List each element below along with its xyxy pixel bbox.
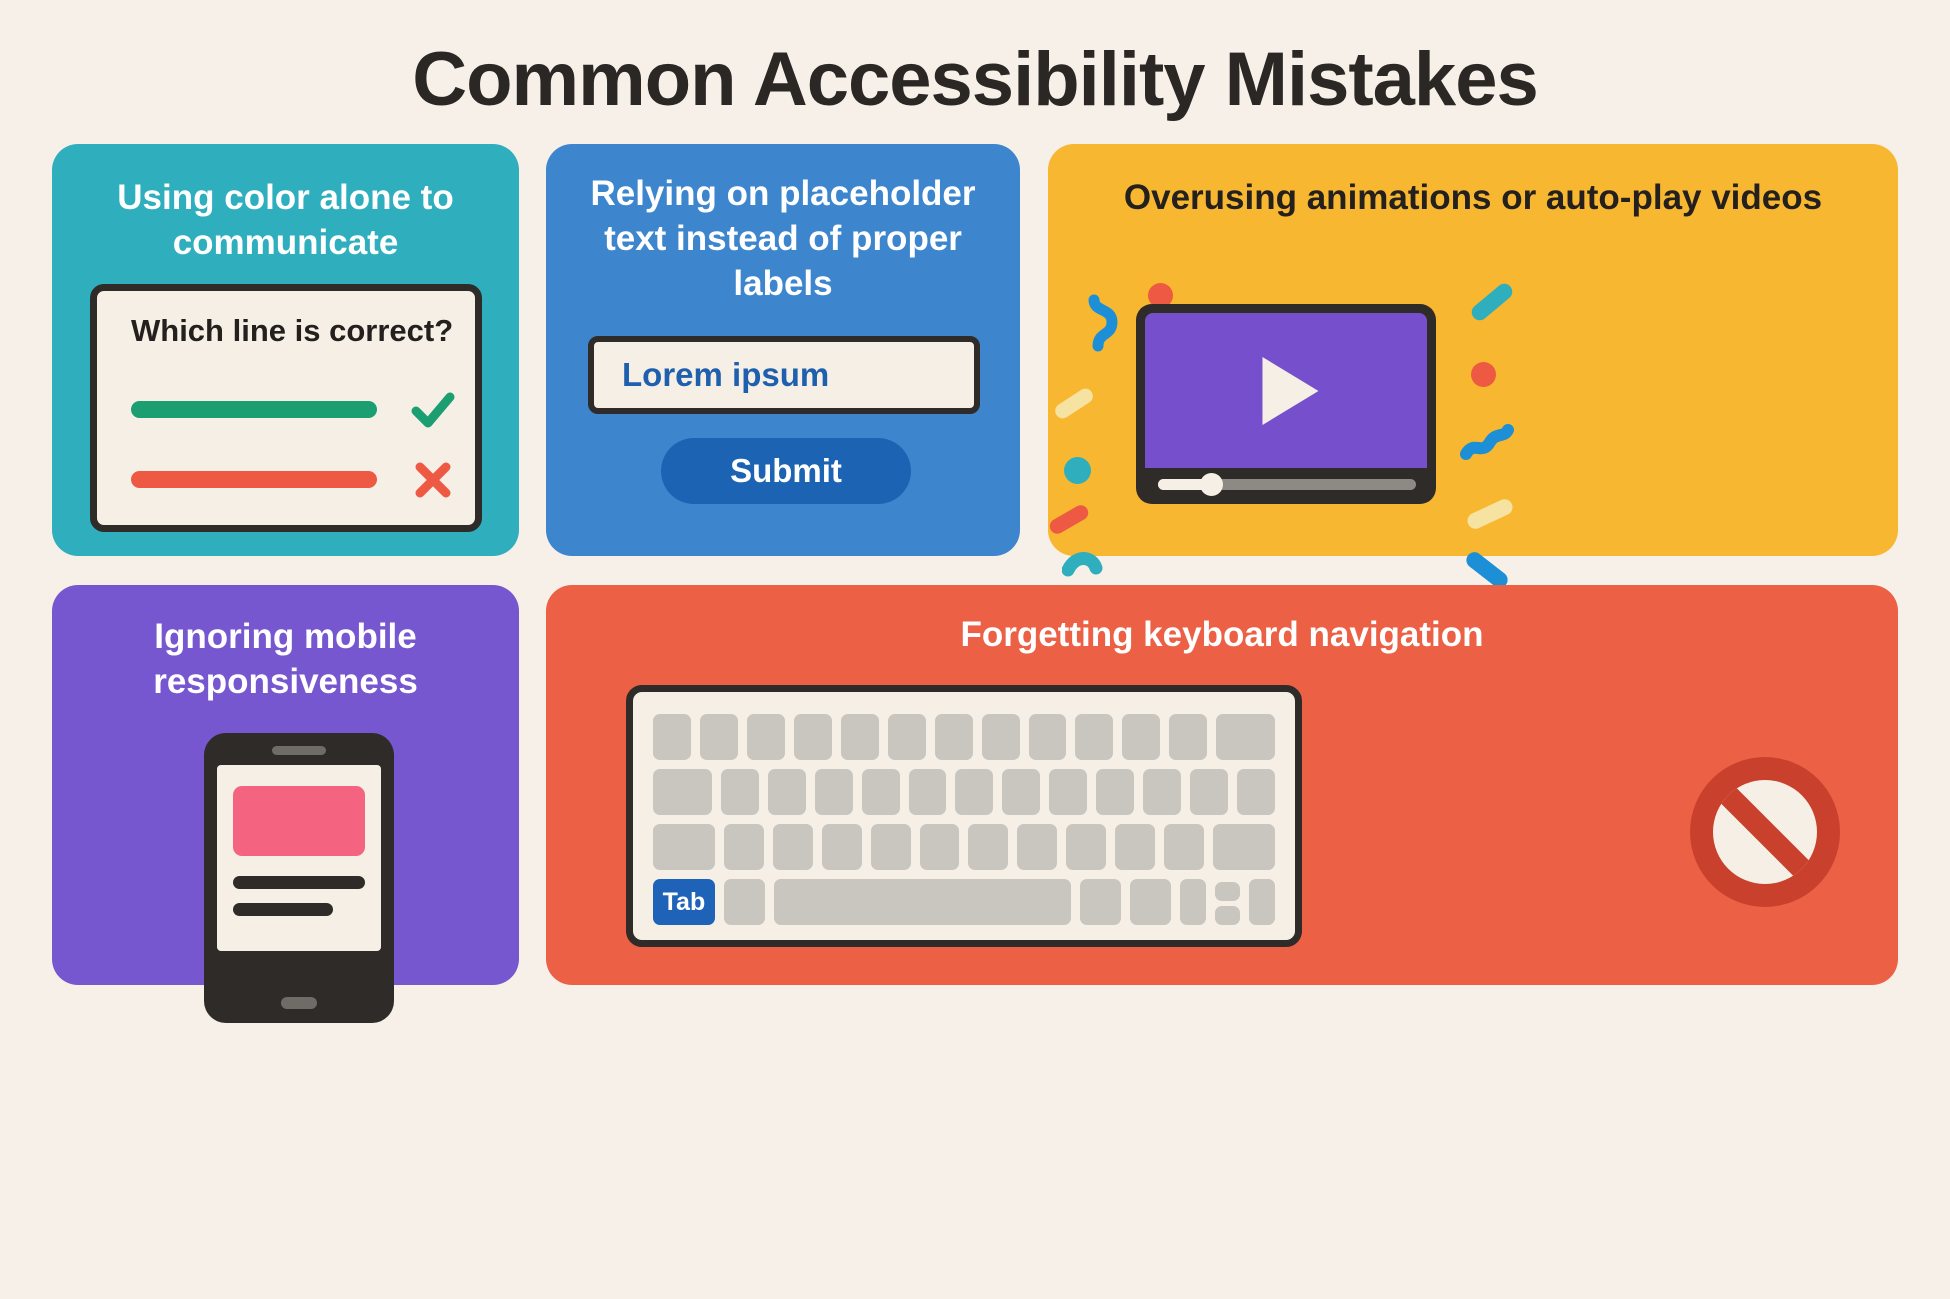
keyboard-key[interactable] [822,824,862,870]
confetti-squiggle-blue-left [1086,292,1132,359]
keyboard-key[interactable] [1130,879,1171,925]
keyboard-key-arrow-right[interactable] [1249,879,1275,925]
card-title-mobile-responsiveness: Ignoring mobile responsiveness [52,615,519,705]
keyboard-key[interactable] [1237,769,1275,815]
confetti-dash-cream-left [1052,386,1095,421]
keyboard-key[interactable] [1164,824,1204,870]
keyboard-key[interactable] [841,714,879,760]
keyboard-key[interactable] [935,714,973,760]
cross-icon [410,457,456,503]
keyboard-key-backspace[interactable] [1216,714,1275,760]
confetti-dash-teal-right [1468,280,1515,323]
keyboard-arrow-cluster [1215,879,1241,925]
quiz-question: Which line is correct? [131,313,453,349]
keyboard-key[interactable] [888,714,926,760]
confetti-squiggle-teal-left [1062,542,1120,587]
keyboard-key-capslock[interactable] [653,824,715,870]
card-title-keyboard-navigation: Forgetting keyboard navigation [546,613,1898,658]
keyboard-row: Tab [653,879,1275,925]
keyboard-key[interactable] [920,824,960,870]
keyboard-key[interactable] [747,714,785,760]
keyboard-key[interactable] [1169,714,1207,760]
prohibition-icon-slash [1713,780,1817,884]
keyboard-key[interactable] [1029,714,1067,760]
keyboard-key[interactable] [773,824,813,870]
card-title-color-alone: Using color alone to communicate [52,176,519,266]
keyboard-key[interactable] [1122,714,1160,760]
keyboard-key[interactable] [724,824,764,870]
card-placeholder-text: Relying on placeholder text instead of p… [546,144,1020,556]
keyboard-key[interactable] [724,879,765,925]
keyboard-key[interactable] [1075,714,1113,760]
keyboard-row [653,714,1275,760]
keyboard-key[interactable] [794,714,832,760]
phone-image-block [233,786,365,856]
confetti-squiggle-blue-right [1458,416,1520,473]
keyboard-key[interactable] [1049,769,1087,815]
page-title: Common Accessibility Mistakes [0,36,1950,123]
phone-text-line [233,876,365,889]
keyboard-key[interactable] [1115,824,1155,870]
infographic-root: Common Accessibility Mistakes Using colo… [0,0,1950,1299]
keyboard-key[interactable] [815,769,853,815]
keyboard-key[interactable] [1017,824,1057,870]
video-progress-track[interactable] [1158,479,1416,490]
phone-text-line [233,903,333,916]
prohibition-icon-inner [1713,780,1817,884]
keyboard-key[interactable] [1190,769,1228,815]
phone-speaker-icon [272,746,326,755]
keyboard-key[interactable] [653,714,691,760]
keyboard-key[interactable] [1096,769,1134,815]
input-placeholder-value: Lorem ipsum [622,356,829,394]
submit-button[interactable]: Submit [661,438,911,504]
quiz-panel-mockup: Which line is correct? [90,284,482,532]
card-keyboard-navigation: Forgetting keyboard navigation [546,585,1898,985]
keyboard-key[interactable] [862,769,900,815]
keyboard-key[interactable] [721,769,759,815]
keyboard-key[interactable] [1143,769,1181,815]
keyboard-key-enter[interactable] [1213,824,1275,870]
confetti-dot-red-right [1471,362,1496,387]
keyboard-key[interactable] [968,824,1008,870]
confetti-dash-cream-right [1465,497,1515,532]
keyboard-key[interactable] [768,769,806,815]
keyboard-key[interactable] [1002,769,1040,815]
quiz-row-correct [131,387,456,433]
prohibition-icon [1690,757,1840,907]
keyboard-key[interactable] [1080,879,1121,925]
answer-bar-red [131,471,377,488]
keyboard-key[interactable] [871,824,911,870]
keyboard-key-tab[interactable] [653,769,712,815]
keyboard-key-arrow-down[interactable] [1215,906,1241,925]
answer-bar-green [131,401,377,418]
check-icon [410,387,456,433]
keyboard-key[interactable] [982,714,1020,760]
text-input-field[interactable]: Lorem ipsum [588,336,980,414]
phone-screen [217,765,381,951]
keyboard-row [653,824,1275,870]
confetti-dash-red-left [1047,503,1091,537]
keyboard-key-tab-highlighted[interactable]: Tab [653,879,715,925]
keyboard-key-arrow-up[interactable] [1215,882,1241,901]
card-color-alone: Using color alone to communicate Which l… [52,144,519,556]
video-progress-handle[interactable] [1200,473,1223,496]
keyboard-mockup: Tab [626,685,1302,947]
quiz-row-incorrect [131,457,456,503]
keyboard-key[interactable] [700,714,738,760]
keyboard-row [653,769,1275,815]
keyboard-key-arrow-left[interactable] [1180,879,1206,925]
keyboard-key[interactable] [1066,824,1106,870]
card-title-overusing-animations: Overusing animations or auto-play videos [1048,176,1898,221]
phone-home-button-icon [281,997,317,1009]
video-screen [1145,313,1427,468]
keyboard-key-space[interactable] [774,879,1071,925]
keyboard-key[interactable] [955,769,993,815]
card-overusing-animations: Overusing animations or auto-play videos [1048,144,1898,556]
keyboard-key[interactable] [909,769,947,815]
confetti-dot-teal-left [1064,457,1091,484]
phone-mockup [204,733,394,1023]
card-title-placeholder-text: Relying on placeholder text instead of p… [546,172,1020,306]
play-icon[interactable] [1262,357,1318,425]
video-player-mockup [1136,304,1436,504]
